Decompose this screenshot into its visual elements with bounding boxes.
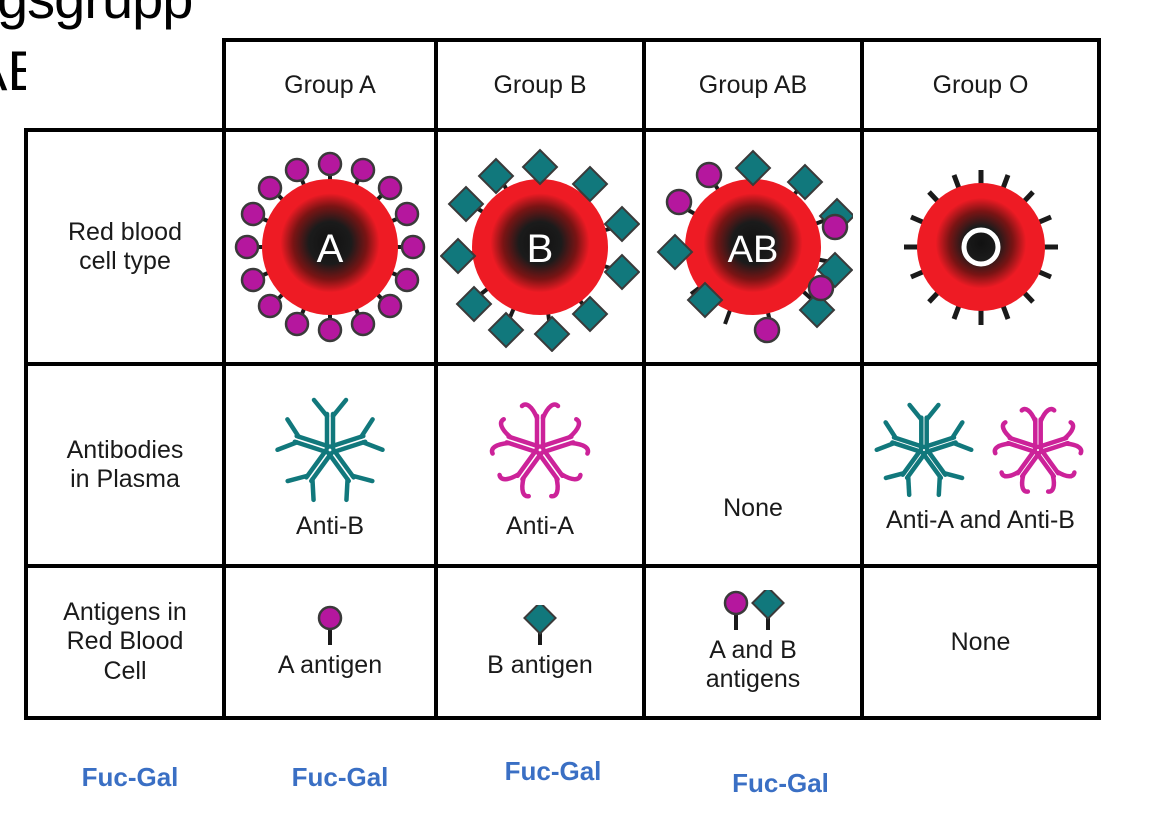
b-antigen-marker-icon	[520, 605, 560, 649]
antibody-cell-group-o: Anti-A and Anti-B	[862, 364, 1099, 566]
igm-antibody-magenta-icon	[983, 396, 1093, 504]
antigen-caption-group-a: A antigen	[278, 651, 382, 680]
igm-antibody-teal-icon	[265, 390, 395, 510]
fucgal-label-group-ab: Fuc-Gal	[444, 754, 662, 799]
antigen-cell-group-b: B antigen	[436, 566, 644, 718]
table-header-row: Group A Group B Group AB Group O	[26, 40, 1099, 130]
abo-blood-group-table: Group A Group B Group AB Group O Red blo…	[24, 38, 1101, 720]
antigen-cell-group-o: None	[862, 566, 1099, 718]
a-antigen-marker-icon	[310, 605, 350, 649]
column-header-group-b: Group B	[436, 40, 644, 130]
column-header-group-ab: Group AB	[644, 40, 862, 130]
red-blood-cell-b-icon: B	[440, 142, 640, 352]
cell-letter-b: B	[527, 227, 554, 271]
rbc-cell-group-a: A	[224, 130, 436, 364]
antibody-cell-group-ab: None	[644, 364, 862, 566]
rbc-cell-group-o	[862, 130, 1099, 364]
rbc-cell-group-ab: AB	[644, 130, 862, 364]
table-row-antibodies-in-plasma: Antibodiesin Plasma	[26, 364, 1099, 566]
a-and-b-antigen-markers-icon	[716, 590, 790, 634]
antigen-caption-group-o: None	[951, 628, 1011, 657]
igm-antibody-magenta-icon	[475, 390, 605, 510]
antibody-cell-group-b: Anti-A	[436, 364, 644, 566]
row-label-antibodies-in-plasma: Antibodiesin Plasma	[26, 364, 224, 566]
antibody-caption-group-a: Anti-B	[296, 512, 364, 541]
antigen-cell-group-a: A antigen	[224, 566, 436, 718]
row-label-antigens-in-red-blood-cell: Antigens inRed BloodCell	[26, 566, 224, 718]
antibody-caption-group-b: Anti-A	[506, 512, 574, 541]
fucgal-label-group-o: Fuc-Gal	[662, 754, 899, 799]
clipped-heading-top: …gsgrupp	[0, 0, 192, 31]
igm-antibody-teal-icon	[869, 396, 979, 504]
red-blood-cell-o-icon	[881, 142, 1081, 352]
cell-letter-a: A	[317, 227, 344, 271]
antibody-caption-group-ab: None	[723, 494, 783, 523]
antigen-caption-group-ab: A and Bantigens	[706, 636, 801, 694]
fucgal-footer-row: Fuc-Gal Fuc-Gal Fuc-Gal Fuc-Gal	[24, 754, 1097, 799]
column-header-group-o: Group O	[862, 40, 1099, 130]
antigen-cell-group-ab: A and Bantigens	[644, 566, 862, 718]
column-header-group-a: Group A	[224, 40, 436, 130]
red-blood-cell-a-icon: A	[230, 142, 430, 352]
table-row-antigens-in-red-blood-cell: Antigens inRed BloodCell A antigen B ant…	[26, 566, 1099, 718]
cell-letter-ab: AB	[728, 229, 779, 271]
rbc-cell-group-b: B	[436, 130, 644, 364]
corner-blank-cell	[26, 40, 224, 130]
antibody-caption-group-o: Anti-A and Anti-B	[886, 506, 1075, 535]
red-blood-cell-ab-icon: AB	[653, 142, 853, 352]
table-row-red-blood-cell-type: Red bloodcell type	[26, 130, 1099, 364]
fucgal-label-group-b: Fuc-Gal	[236, 754, 444, 799]
fucgal-label-group-a: Fuc-Gal	[24, 754, 236, 799]
antigen-caption-group-b: B antigen	[487, 651, 593, 680]
antibody-cell-group-a: Anti-B	[224, 364, 436, 566]
row-label-red-blood-cell-type: Red bloodcell type	[26, 130, 224, 364]
